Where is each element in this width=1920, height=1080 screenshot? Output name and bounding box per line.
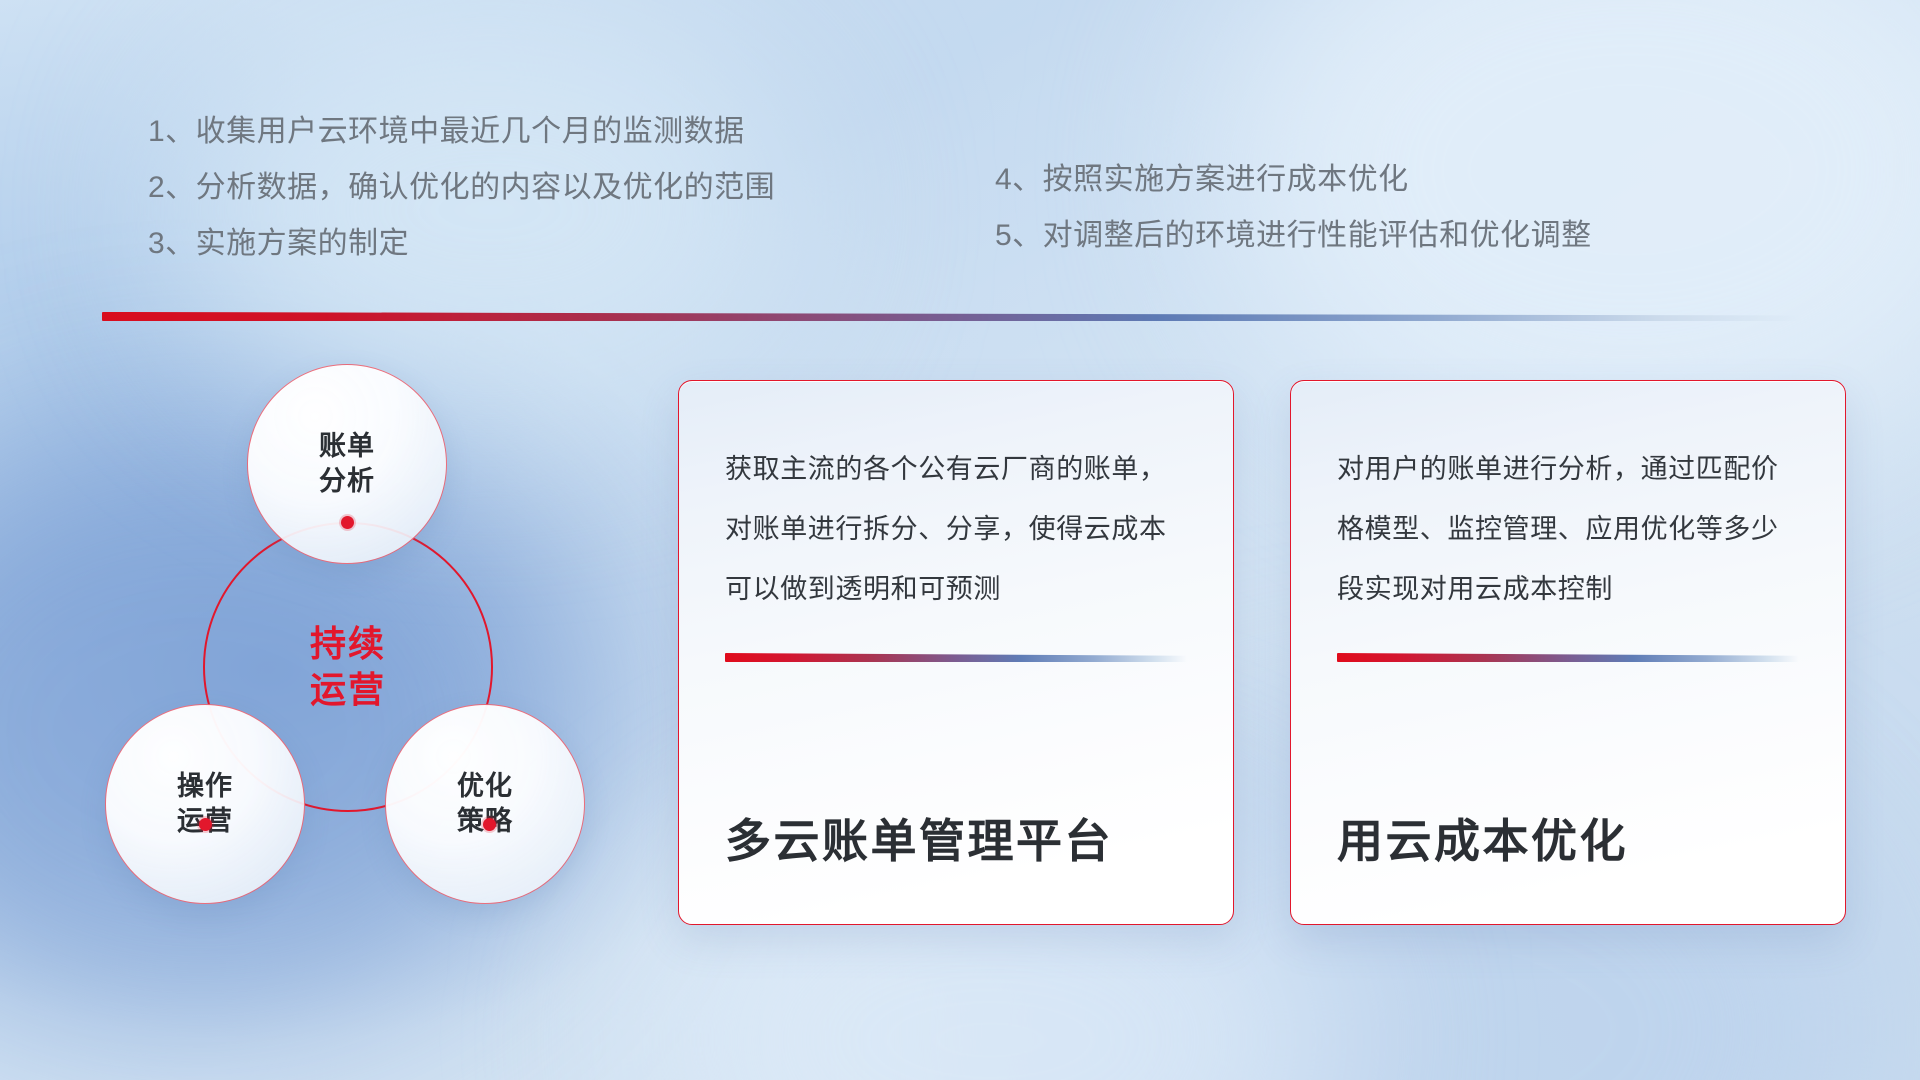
process-step-3: 3、实施方案的制定 — [148, 216, 775, 272]
card-multicloud-billing-platform-rule — [725, 653, 1187, 662]
venn-connector-dot-left — [199, 818, 212, 831]
process-step-4: 4、按照实施方案进行成本优化 — [995, 152, 1592, 208]
venn-node-optimization-strategy[interactable]: 优化 策略 — [385, 704, 585, 904]
card-cloud-cost-optimization-title: 用云成本优化 — [1337, 812, 1799, 870]
venn-node-billing-analysis-label-line1: 账单 — [319, 429, 375, 464]
venn-node-billing-analysis-label-line2: 分析 — [319, 464, 375, 499]
venn-node-billing-analysis[interactable]: 账单 分析 — [247, 364, 447, 564]
process-step-2: 2、分析数据，确认优化的内容以及优化的范围 — [148, 160, 775, 216]
venn-connector-dot-top — [341, 516, 354, 529]
slide-canvas: 1、收集用户云环境中最近几个月的监测数据 2、分析数据，确认优化的内容以及优化的… — [0, 0, 1920, 1080]
process-step-1: 1、收集用户云环境中最近几个月的监测数据 — [148, 104, 775, 160]
card-cloud-cost-optimization[interactable]: 对用户的账单进行分析，通过匹配价格模型、监控管理、应用优化等多少段实现对用云成本… — [1290, 380, 1846, 925]
venn-node-optimization-strategy-label-line1: 优化 — [457, 769, 513, 804]
card-multicloud-billing-platform-title: 多云账单管理平台 — [725, 812, 1187, 870]
venn-connector-dot-right — [483, 818, 496, 831]
process-steps-left-column: 1、收集用户云环境中最近几个月的监测数据 2、分析数据，确认优化的内容以及优化的… — [148, 104, 775, 272]
process-steps-right-column: 4、按照实施方案进行成本优化 5、对调整后的环境进行性能评估和优化调整 — [995, 152, 1592, 264]
card-cloud-cost-optimization-rule — [1337, 653, 1799, 662]
venn-node-operations-label-line1: 操作 — [177, 769, 233, 804]
card-cloud-cost-optimization-body: 对用户的账单进行分析，通过匹配价格模型、监控管理、应用优化等多少段实现对用云成本… — [1337, 439, 1799, 619]
venn-diagram: 持续 运营 账单 分析 操作 运营 优化 策略 — [95, 352, 625, 952]
process-steps: 1、收集用户云环境中最近几个月的监测数据 2、分析数据，确认优化的内容以及优化的… — [0, 104, 1920, 294]
content-cards: 获取主流的各个公有云厂商的账单，对账单进行拆分、分享，使得云成本可以做到透明和可… — [678, 380, 1846, 925]
process-step-5: 5、对调整后的环境进行性能评估和优化调整 — [995, 208, 1592, 264]
header-divider — [102, 312, 1802, 321]
card-multicloud-billing-platform-body: 获取主流的各个公有云厂商的账单，对账单进行拆分、分享，使得云成本可以做到透明和可… — [725, 439, 1187, 619]
card-multicloud-billing-platform[interactable]: 获取主流的各个公有云厂商的账单，对账单进行拆分、分享，使得云成本可以做到透明和可… — [678, 380, 1234, 925]
venn-node-operations[interactable]: 操作 运营 — [105, 704, 305, 904]
